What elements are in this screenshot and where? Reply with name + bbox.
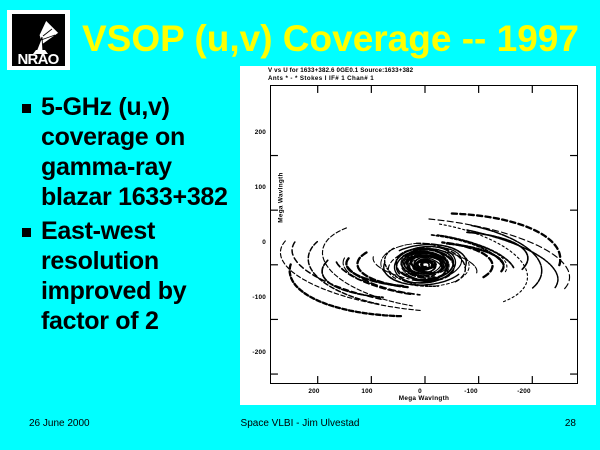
slide-canvas: NRAO VSOP (u,v) Coverage -- 1997 5-GHz (… <box>0 0 600 450</box>
list-item: East-west resolution improved by factor … <box>22 216 234 336</box>
square-bullet-icon <box>22 228 31 237</box>
svg-text:NRAO: NRAO <box>18 51 60 66</box>
x-tick-label: 100 <box>350 388 384 395</box>
radio-telescope-icon: NRAO <box>12 14 65 66</box>
chart-subtitle: Ants * - * Stokes I IF# 1 Chan# 1 <box>268 75 588 83</box>
list-item: 5-GHz (u,v) coverage on gamma-ray blazar… <box>22 92 234 212</box>
bullet-list: 5-GHz (u,v) coverage on gamma-ray blazar… <box>22 92 234 340</box>
uv-track <box>308 242 378 304</box>
x-tick-label: -100 <box>454 388 488 395</box>
axis-ticks <box>271 86 577 383</box>
y-tick-label: 0 <box>242 239 266 246</box>
uv-track <box>471 225 541 287</box>
x-axis-label: Mega Wavlngth <box>270 395 578 402</box>
uv-coverage-chart: V vs U for 1633+382.6 0GE0.1 Source:1633… <box>240 66 596 405</box>
bullet-text: East-west resolution improved by factor … <box>41 216 234 336</box>
nrao-logo: NRAO <box>7 10 70 70</box>
uv-track <box>322 228 412 306</box>
x-tick-label: 200 <box>297 388 331 395</box>
y-tick-label: -100 <box>242 294 266 301</box>
y-tick-label: -200 <box>242 349 266 356</box>
bullet-text: 5-GHz (u,v) coverage on gamma-ray blazar… <box>41 92 234 212</box>
square-bullet-icon <box>22 104 31 113</box>
x-tick-label: -200 <box>507 388 541 395</box>
chart-title: V vs U for 1633+382.6 0GE0.1 Source:1633… <box>268 67 588 75</box>
uv-track <box>438 224 528 302</box>
nrao-logo-inner: NRAO <box>12 14 65 66</box>
x-tick-label: 0 <box>403 388 437 395</box>
uv-tracks-plot <box>271 86 577 383</box>
plot-area <box>270 85 578 384</box>
footer-page-number: 28 <box>565 418 576 429</box>
y-tick-label: 200 <box>242 129 266 136</box>
chart-header: V vs U for 1633+382.6 0GE0.1 Source:1633… <box>268 67 588 83</box>
footer-center: Space VLBI - Jim Ulvestad <box>0 418 600 429</box>
uv-track-group <box>280 213 569 316</box>
page-title: VSOP (u,v) Coverage -- 1997 <box>82 16 592 62</box>
y-tick-label: 100 <box>242 184 266 191</box>
